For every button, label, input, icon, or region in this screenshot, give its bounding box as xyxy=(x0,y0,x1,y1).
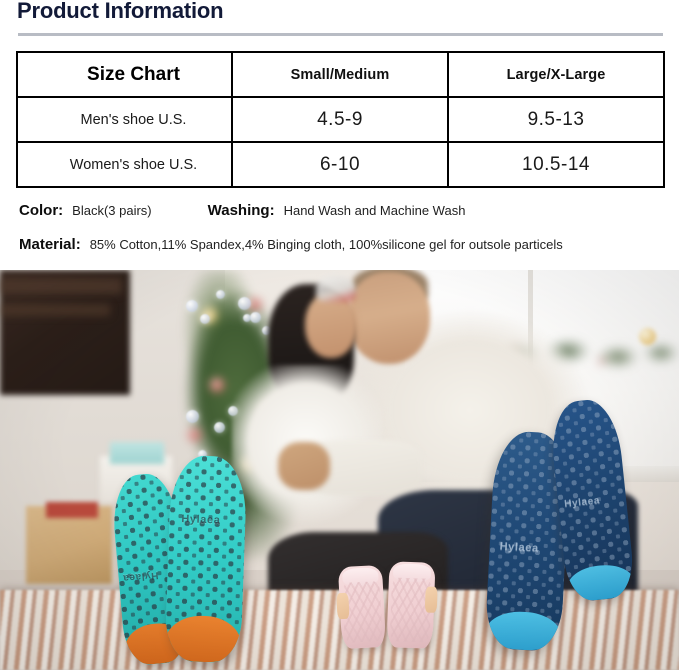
photo-sock-teal-right: Hylaea xyxy=(164,455,247,664)
photo-gift-ribbon xyxy=(46,502,98,518)
photo-bokeh-light xyxy=(250,312,261,323)
bootie-tab xyxy=(336,593,349,620)
photo-man-hand xyxy=(278,442,330,490)
cell-mens-small-medium: 4.5-9 xyxy=(232,97,448,142)
spec-value-washing: Hand Wash and Machine Wash xyxy=(284,203,466,218)
lifestyle-product-photo: Hylaea Hylaea Hylaea Hylaea xyxy=(0,270,679,670)
cell-mens-large-xlarge: 9.5-13 xyxy=(448,97,664,142)
photo-bokeh-light xyxy=(186,410,199,423)
photo-bokeh-light xyxy=(214,422,225,433)
row-label-womens-shoe: Women's shoe U.S. xyxy=(17,142,232,187)
sock-brand-label: Hylaea xyxy=(499,541,539,555)
column-header-small-medium: Small/Medium xyxy=(232,52,448,97)
photo-window-bauble xyxy=(639,328,656,345)
table-row: Women's shoe U.S. 6-10 10.5-14 xyxy=(17,142,664,187)
photo-bokeh-light xyxy=(186,300,198,312)
column-header-size-chart: Size Chart xyxy=(17,52,232,97)
spec-key-washing: Washing: xyxy=(208,202,275,219)
spec-key-material: Material: xyxy=(19,236,81,253)
title-divider xyxy=(18,33,663,36)
product-information-page: Product Information Size Chart Small/Med… xyxy=(0,0,679,670)
photo-fireplace-ledge-lower xyxy=(0,304,110,316)
photo-bokeh-light xyxy=(238,297,251,310)
photo-bokeh-light xyxy=(243,314,251,322)
photo-fireplace-ledge xyxy=(0,278,122,294)
table-header-row: Size Chart Small/Medium Large/X-Large xyxy=(17,52,664,97)
spec-line-color-washing: Color:Black(3 pairs)Washing:Hand Wash an… xyxy=(19,203,465,219)
table-row: Men's shoe U.S. 4.5-9 9.5-13 xyxy=(17,97,664,142)
bootie-tab xyxy=(425,587,438,613)
spec-line-material: Material:85% Cotton,11% Spandex,4% Bingi… xyxy=(19,237,563,253)
spec-value-color: Black(3 pairs) xyxy=(72,203,151,218)
photo-man-head xyxy=(348,272,430,364)
spec-value-material: 85% Cotton,11% Spandex,4% Binging cloth,… xyxy=(90,237,563,252)
photo-baby-bootie-left xyxy=(338,565,386,649)
cell-womens-small-medium: 6-10 xyxy=(232,142,448,187)
photo-santa-hat xyxy=(316,276,356,302)
photo-baby-bootie-right xyxy=(387,561,436,649)
column-header-large-xlarge: Large/X-Large xyxy=(448,52,664,97)
photo-bokeh-light xyxy=(216,290,225,299)
spec-key-color: Color: xyxy=(19,202,63,219)
cell-womens-large-xlarge: 10.5-14 xyxy=(448,142,664,187)
sock-brand-label: Hylaea xyxy=(181,513,220,526)
photo-bokeh-light xyxy=(200,314,210,324)
page-title: Product Information xyxy=(17,0,223,24)
row-label-mens-shoe: Men's shoe U.S. xyxy=(17,97,232,142)
photo-gift-mint xyxy=(110,442,164,464)
product-information-panel: Product Information Size Chart Small/Med… xyxy=(0,0,679,270)
size-chart-table: Size Chart Small/Medium Large/X-Large Me… xyxy=(16,51,665,188)
